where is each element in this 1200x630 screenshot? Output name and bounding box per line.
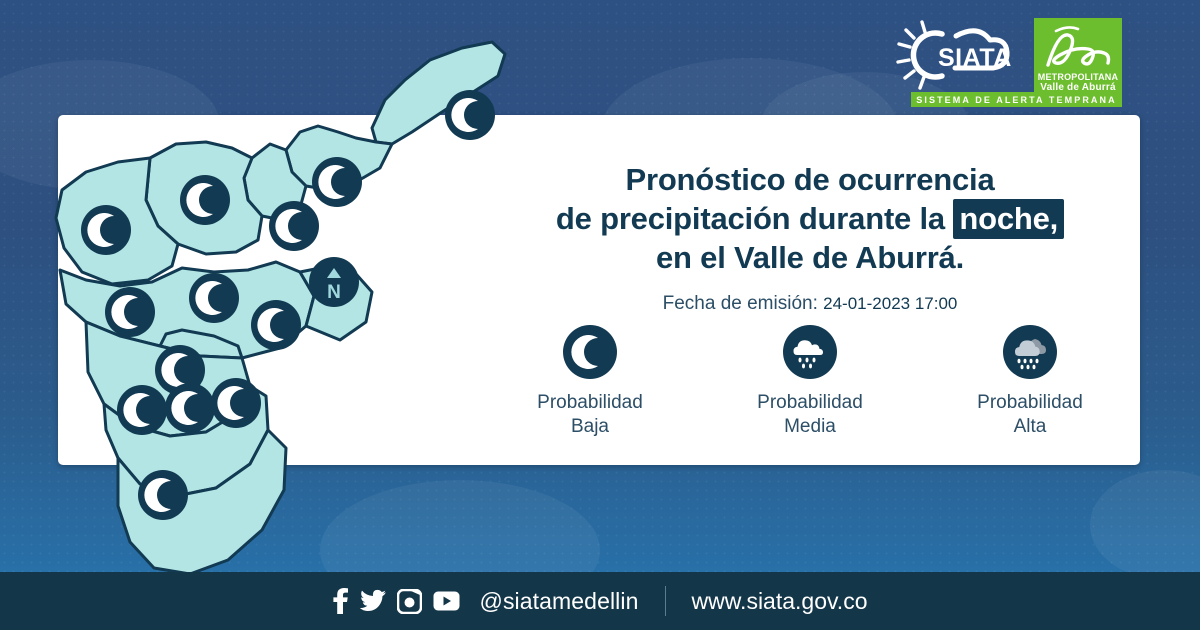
legend-label-media: Probabilidad Media [757,391,863,439]
emission-date: Fecha de emisión: 24-01-2023 17:00 [480,293,1140,315]
logo-area: SIATA METROPOLITANA Valle de Aburrá [896,18,1122,98]
legend-item-alta: Probabilidad Alta [935,325,1125,439]
marker-girardota [312,157,362,207]
marker-caldas-sur [138,470,188,520]
marker-medellin [105,287,155,337]
headline-line1: Pronóstico de ocurrencia [480,160,1140,199]
social-icons [333,588,460,614]
legend-media-line2: Media [757,415,863,439]
twitter-icon[interactable] [359,589,386,613]
emission-label: Fecha de emisión: [663,293,818,314]
marker-bello [180,175,230,225]
legend-baja-line2: Baja [537,415,643,439]
moon-icon [563,325,617,379]
headline-line2-text: de precipitación durante la [556,201,945,236]
footer-divider [665,586,666,616]
emission-value: 24-01-2023 17:00 [823,294,957,313]
marker-caldas [211,378,261,428]
tagline-bar: SISTEMA DE ALERTA TEMPRANA [911,92,1122,107]
social-handle[interactable]: @siatamedellin [480,588,639,615]
facebook-icon[interactable] [333,588,348,614]
area-line1: METROPOLITANA [1038,72,1118,82]
marker-barbosa [445,90,495,140]
legend-label-alta: Probabilidad Alta [977,391,1083,439]
headline-line2: de precipitación durante la noche, [480,199,1140,238]
legend-alta-line1: Probabilidad [977,391,1083,415]
marker-sabaneta [117,385,167,435]
footer-bar: @siatamedellin www.siata.gov.co [0,572,1200,630]
legend-baja-line1: Probabilidad [537,391,643,415]
headline-highlight: noche, [953,199,1064,239]
cloud-heavy-rain-icon [1003,325,1057,379]
legend-item-media: Probabilidad Media [715,325,905,439]
compass-north-icon: N [309,257,359,307]
area-metropolitana-logo: METROPOLITANA Valle de Aburrá [1034,18,1122,98]
marker-caldas-norte [165,383,215,433]
marker-itagui [189,273,239,323]
marker-medellin-norte [81,205,131,255]
legend-media-line1: Probabilidad [757,391,863,415]
compass-label: N [327,282,341,303]
marker-copacabana [269,201,319,251]
forecast-panel: Pronóstico de ocurrencia de precipitació… [480,160,1140,315]
page-title: Pronóstico de ocurrencia de precipitació… [480,160,1140,277]
marker-envigado [251,300,301,350]
valle-de-aburra-map: N [0,40,620,600]
siata-wordmark: SIATA [938,44,1012,72]
website-link[interactable]: www.siata.gov.co [692,588,868,615]
legend-item-baja: Probabilidad Baja [495,325,685,439]
siata-logo: SIATA [896,18,1028,94]
area-script-icon [1034,23,1122,73]
probability-legend: Probabilidad Baja Probabilidad Media [480,325,1140,439]
legend-alta-line2: Alta [977,415,1083,439]
legend-label-baja: Probabilidad Baja [537,391,643,439]
youtube-icon[interactable] [433,591,460,611]
instagram-icon[interactable] [397,589,422,614]
headline-line3: en el Valle de Aburrá. [480,238,1140,277]
cloud-moon-rain-icon [783,325,837,379]
